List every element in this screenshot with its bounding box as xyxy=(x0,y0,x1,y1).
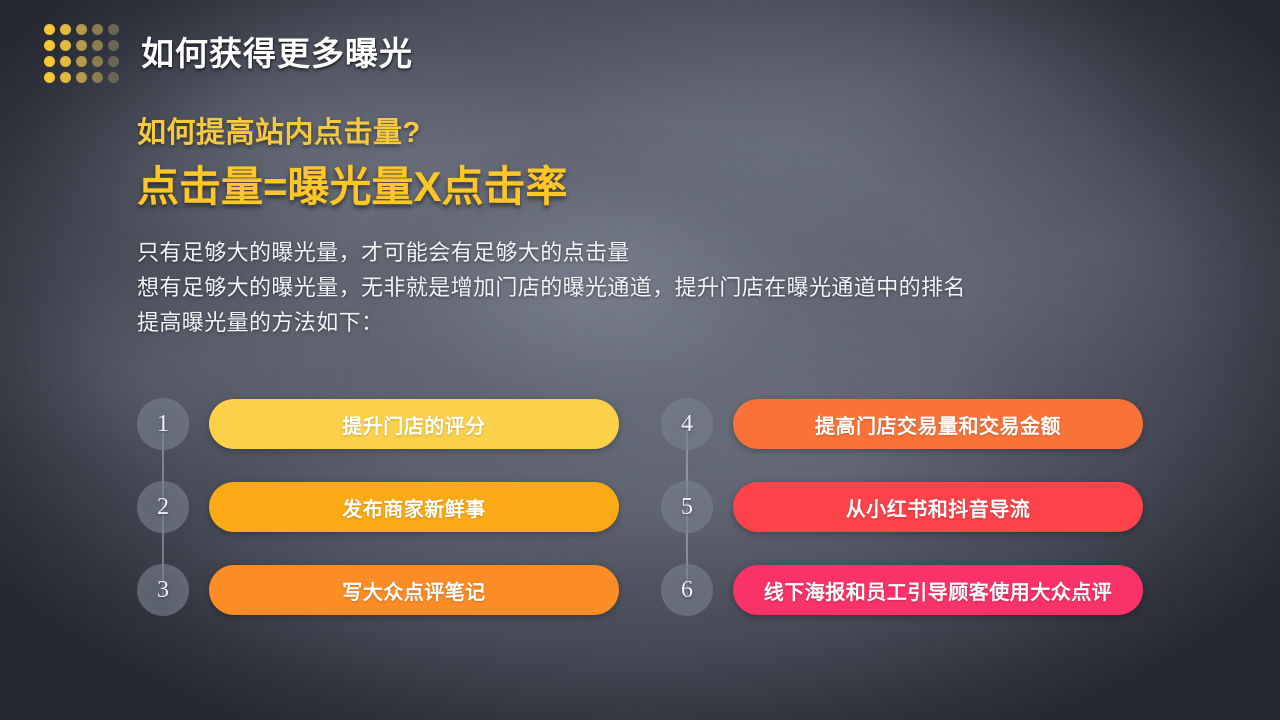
list-item-number: 6 xyxy=(661,564,713,616)
dot-grid-icon xyxy=(44,24,119,83)
list-item-number: 4 xyxy=(661,398,713,450)
list-item[interactable]: 5 从小红书和抖音导流 xyxy=(661,481,1143,533)
body-line: 提高曝光量的方法如下： xyxy=(137,306,1170,341)
body-paragraph: 只有足够大的曝光量，才可能会有足够大的点击量 想有足够大的曝光量，无非就是增加门… xyxy=(137,236,1170,340)
slide: 如何获得更多曝光 如何提高站内点击量? 点击量=曝光量X点击率 只有足够大的曝光… xyxy=(0,0,1280,720)
list-item-number: 3 xyxy=(137,564,189,616)
list-item-number: 2 xyxy=(137,481,189,533)
list-item[interactable]: 1 提升门店的评分 xyxy=(137,398,619,450)
list-item[interactable]: 2 发布商家新鲜事 xyxy=(137,481,619,533)
list-item-pill[interactable]: 线下海报和员工引导顾客使用大众点评 xyxy=(733,565,1143,615)
list-item-number: 5 xyxy=(661,481,713,533)
list-column-right: 4 提高门店交易量和交易金额 5 从小红书和抖音导流 6 线下海报和员工引导顾客… xyxy=(661,394,1143,626)
slide-header: 如何获得更多曝光 xyxy=(44,24,413,83)
list-item[interactable]: 4 提高门店交易量和交易金额 xyxy=(661,398,1143,450)
list-item[interactable]: 3 写大众点评笔记 xyxy=(137,564,619,616)
body-line: 只有足够大的曝光量，才可能会有足够大的点击量 xyxy=(137,236,1170,271)
body-line: 想有足够大的曝光量，无非就是增加门店的曝光通道，提升门店在曝光通道中的排名 xyxy=(137,271,1170,306)
content-block: 如何提高站内点击量? 点击量=曝光量X点击率 只有足够大的曝光量，才可能会有足够… xyxy=(137,118,1170,340)
list-item[interactable]: 6 线下海报和员工引导顾客使用大众点评 xyxy=(661,564,1143,616)
list-column-left: 1 提升门店的评分 2 发布商家新鲜事 3 写大众点评笔记 xyxy=(137,394,619,626)
page-title: 如何获得更多曝光 xyxy=(141,37,413,70)
subheading: 如何提高站内点击量? xyxy=(137,118,1170,150)
list-item-pill[interactable]: 提高门店交易量和交易金额 xyxy=(733,399,1143,449)
list-item-pill[interactable]: 提升门店的评分 xyxy=(209,399,619,449)
numbered-list: 1 提升门店的评分 2 发布商家新鲜事 3 写大众点评笔记 4 提高门店交易量和… xyxy=(137,394,1143,626)
list-item-pill[interactable]: 发布商家新鲜事 xyxy=(209,482,619,532)
list-item-number: 1 xyxy=(137,398,189,450)
list-item-pill[interactable]: 写大众点评笔记 xyxy=(209,565,619,615)
list-item-pill[interactable]: 从小红书和抖音导流 xyxy=(733,482,1143,532)
formula-heading: 点击量=曝光量X点击率 xyxy=(137,164,1170,210)
